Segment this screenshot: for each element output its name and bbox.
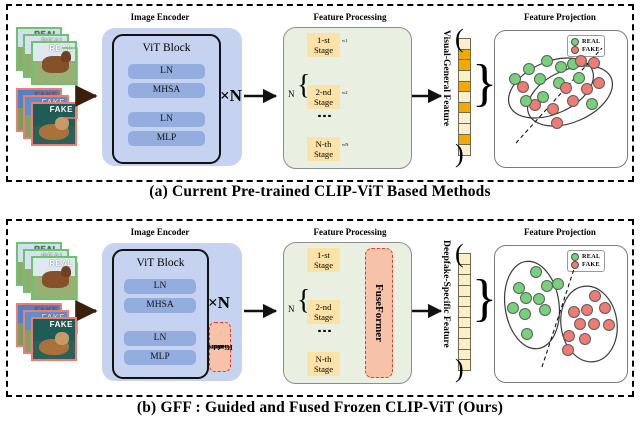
panel-b-block-ln1: LN (124, 279, 196, 294)
panel-b-stage-ellipsis: ⋮ (320, 323, 328, 339)
scatter-point-fake (589, 290, 601, 302)
feature-cell (459, 307, 470, 318)
panel-a-stage-1-line1: 1-st (317, 35, 330, 45)
panel-b-processing-title: Feature Processing (280, 227, 420, 237)
panel-a-vector-brace-top: ( (455, 24, 464, 54)
scatter-point-fake (562, 344, 574, 356)
panel-b-stage-n: N-th Stage (307, 352, 340, 376)
panel-a-weight-2: w2 (342, 90, 348, 95)
panel-b-encoder-title: Image Encoder (100, 227, 220, 237)
feature-cell (459, 113, 470, 124)
scatter-point-fake (560, 82, 572, 94)
scatter-point-real (539, 304, 551, 316)
panel-a-vector-label: Visual-General Feature (441, 30, 452, 126)
panel-b-vector-brace-top: ( (455, 239, 464, 269)
scatter-point-real (521, 328, 533, 340)
panel-a-caption: (a) Current Pre-trained CLIP-ViT Based M… (0, 183, 640, 201)
scatter-point-fake (574, 318, 586, 330)
panel-a-vit-block: ViT Block LN MHSA LN MLP (112, 34, 221, 164)
scatter-point-real (573, 72, 585, 84)
panel-b-stage-n-line1: N-th (316, 354, 332, 364)
scatter-point-fake (581, 83, 593, 95)
panel-b-block-mhsa: MHSA (124, 298, 196, 313)
scatter-point-fake (567, 95, 579, 107)
panel-b-stage-2: 2-nd Stage (307, 300, 340, 324)
panel-b-vector-brace-bottom: ) (455, 354, 464, 384)
scatter-point-fake (579, 333, 591, 345)
scatter-point-real (530, 266, 542, 278)
panel-a-vector-brace-bottom: ) (455, 139, 464, 169)
panel-b-stage-1-line1: 1-st (317, 250, 330, 260)
thumbnail-real-front: REAL (31, 41, 77, 85)
feature-cell (459, 103, 470, 114)
panel-a-stage-2-line2: Stage (314, 97, 333, 107)
feature-cell (459, 328, 470, 339)
feature-cell (459, 297, 470, 308)
thumbnail-fake-watermark: FAKE (33, 104, 75, 115)
panel-a-points (494, 30, 626, 166)
panel-a-weight-n: wN (342, 142, 349, 147)
panel-a-block-ln1: LN (128, 64, 205, 79)
scatter-point-real (507, 302, 519, 314)
panel-a-block-ln2: LN (128, 112, 205, 127)
feature-cell (459, 286, 470, 297)
fuseformer-box[interactable]: FuseFormer (365, 248, 393, 378)
panel-a-encoder-title: Image Encoder (100, 12, 220, 22)
feature-cell (459, 339, 470, 350)
panel-b-vector-label: Deepfake-Specific Feature (441, 240, 452, 348)
scatter-point-real (541, 55, 553, 67)
scatter-point-real (520, 292, 532, 304)
panel-b-repeat-n: ×N (208, 293, 230, 313)
panel-a-vit-title: ViT Block (114, 42, 219, 54)
scatter-point-fake (593, 77, 605, 89)
panel-a-real-thumbnails: REAL REAL REAL (16, 27, 78, 85)
feature-guide-label-line2: Guide (210, 343, 230, 351)
scatter-point-real (586, 98, 598, 110)
scatter-point-fake (568, 306, 580, 318)
scatter-point-real (534, 73, 546, 85)
panel-a-block-mhsa: MHSA (128, 83, 205, 98)
panel-a-stage-n: N-th Stage (307, 137, 340, 161)
feature-guide-box[interactable]: Feature Guide (209, 322, 231, 372)
feature-cell (459, 82, 470, 93)
panel-a-stage-1-line2: Stage (314, 45, 333, 55)
panel-b-vit-block: ViT Block LN MHSA LN MLP (112, 249, 209, 379)
scatter-point-fake (588, 318, 600, 330)
scatter-point-real (523, 63, 535, 75)
panel-a-repeat-n: ×N (220, 86, 242, 106)
panel-a-weight-1: w1 (342, 38, 348, 43)
panel-a-stage-n-line2: Stage (314, 149, 333, 159)
panel-a-processing-title: Feature Processing (280, 12, 420, 22)
thumbnail-fake-front-b: FAKE (31, 317, 77, 361)
feature-cell (459, 275, 470, 286)
scatter-point-fake (603, 319, 615, 331)
panel-a-stage-1: 1-st Stage (307, 33, 340, 57)
panel-b-n-label: N (288, 304, 295, 314)
panel-b-stage-n-line2: Stage (314, 364, 333, 374)
panel-a-fake-thumbnails: FAKE FAKE FAKE (16, 88, 78, 146)
scatter-point-real (519, 308, 531, 320)
thumbnail-fake-front: FAKE (31, 102, 77, 146)
panel-b-points (494, 245, 626, 381)
feature-cell (459, 71, 470, 82)
scatter-point-fake (581, 304, 593, 316)
panel-a-block-mlp: MLP (128, 131, 205, 146)
scatter-point-real (555, 61, 567, 73)
scatter-point-fake (599, 302, 611, 314)
panel-a-n-label: N (288, 89, 295, 99)
panel-b-projection-title: Feature Projection (490, 227, 630, 237)
figure-root: Image Encoder Feature Processing Feature… (0, 0, 640, 423)
panel-b-caption: (b) GFF : Guided and Fused Frozen CLIP-V… (0, 399, 640, 417)
scatter-point-fake (563, 330, 575, 342)
feature-cell (459, 92, 470, 103)
thumbnail-real-watermark: REAL (33, 43, 75, 54)
panel-b-fake-thumbnails: FAKE FAKE FAKE (16, 303, 78, 361)
panel-a-stage-ellipsis: ⋮ (320, 108, 328, 124)
thumbnail-fake-watermark-b: FAKE (33, 319, 75, 330)
panel-a-projection-title: Feature Projection (490, 12, 630, 22)
thumbnail-real-watermark-b: REAL (33, 258, 75, 269)
thumbnail-real-front-b: REAL (31, 256, 77, 300)
panel-b-stage-2-line1: 2-nd (316, 302, 332, 312)
panel-a-stage-2: 2-nd Stage (307, 85, 340, 109)
panel-b-vit-title: ViT Block (114, 257, 207, 269)
panel-b-block-mlp: MLP (124, 350, 196, 365)
scatter-point-fake (547, 103, 559, 115)
feature-cell (459, 60, 470, 71)
panel-b-stage-2-line2: Stage (314, 312, 333, 322)
fuseformer-label: FuseFormer (373, 284, 385, 342)
feature-cell (459, 318, 470, 329)
feature-cell (459, 124, 470, 135)
scatter-point-fake (588, 57, 600, 69)
panel-b-stage-1: 1-st Stage (307, 248, 340, 272)
panel-b-real-thumbnails: REAL REAL REAL (16, 242, 78, 300)
panel-a-stage-n-line1: N-th (316, 139, 332, 149)
scatter-point-real (552, 278, 564, 290)
scatter-point-fake (575, 55, 587, 67)
panel-b-block-ln2: LN (124, 331, 196, 346)
panel-a-stage-2-line1: 2-nd (316, 87, 332, 97)
panel-b-stage-1-line2: Stage (314, 260, 333, 270)
scatter-point-fake (551, 117, 563, 129)
